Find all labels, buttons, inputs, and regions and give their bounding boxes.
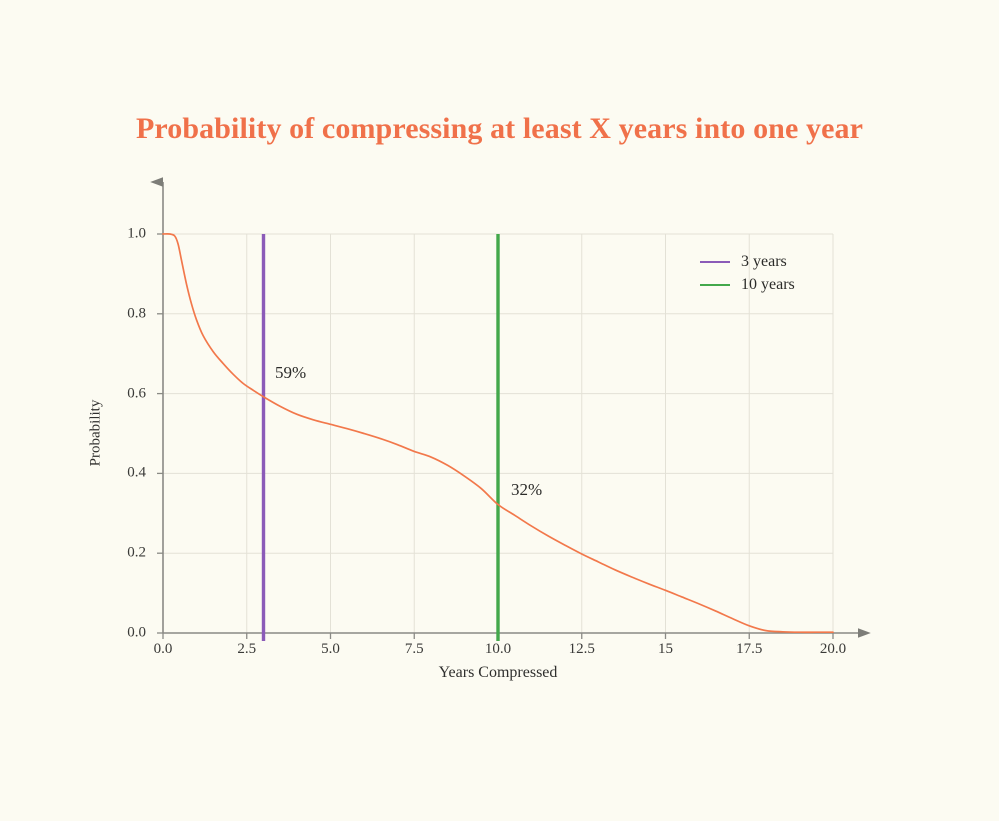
legend-label-10-years: 10 years [741,276,795,294]
ytick-label-4: 0.8 [104,305,146,322]
legend-item-10-years[interactable]: 10 years [700,273,840,296]
legend-label-3-years: 3 years [741,253,787,271]
xtick-label-4: 10.0 [485,641,511,658]
ytick-label-0: 0.0 [104,625,146,642]
annotation-59-percent: 59% [275,363,306,383]
legend-item-3-years[interactable]: 3 years [700,250,840,273]
xtick-label-2: 5.0 [321,641,340,658]
ytick-label-3: 0.6 [104,385,146,402]
legend-swatch-10-years [700,284,730,286]
legend-swatch-3-years [700,261,730,263]
chart-figure: Probability of compressing at least X ye… [0,0,999,821]
ytick-label-2: 0.4 [104,465,146,482]
xtick-label-6: 15 [658,641,673,658]
xtick-label-5: 12.5 [569,641,595,658]
ytick-label-1: 0.2 [104,545,146,562]
y-axis-label: Probability [88,400,105,467]
xtick-label-0: 0.0 [154,641,173,658]
ytick-label-5: 1.0 [104,226,146,243]
x-axis-label: Years Compressed [163,664,833,682]
xtick-label-8: 20.0 [820,641,846,658]
plot-canvas [0,0,999,821]
chart-legend: 3 years 10 years [700,250,840,296]
marker-lines [264,234,499,641]
annotation-32-percent: 32% [511,480,542,500]
xtick-label-3: 7.5 [405,641,424,658]
xtick-label-7: 17.5 [736,641,762,658]
xtick-label-1: 2.5 [237,641,256,658]
